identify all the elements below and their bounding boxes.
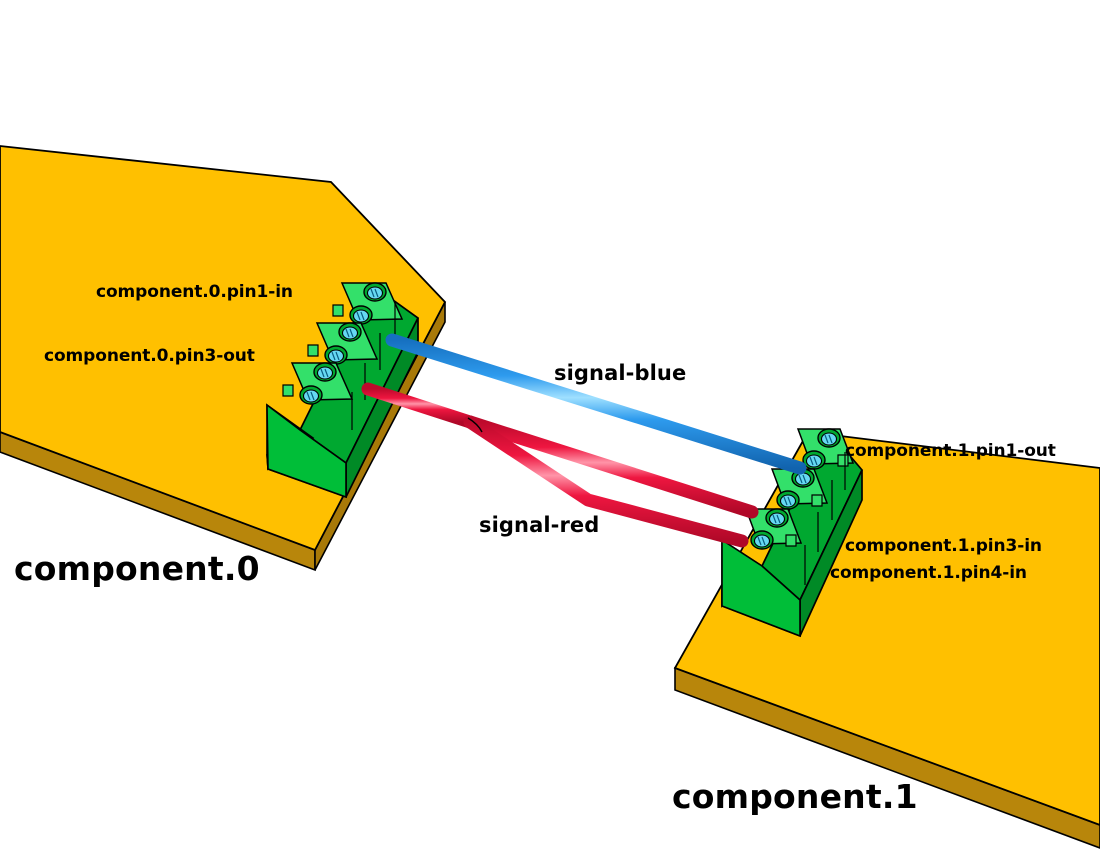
screw-terminal-0-2b[interactable] [325, 346, 347, 364]
signal-label-blue: signal-blue [554, 363, 686, 384]
diagram-canvas: component.0.pin1-in component.0.pin3-out… [0, 0, 1100, 850]
screw-terminal-1-3a[interactable] [766, 509, 788, 527]
screw-terminal-0-3a[interactable] [314, 363, 336, 381]
board-title-component-1: component.1 [672, 780, 918, 813]
signal-label-red: signal-red [479, 515, 599, 536]
screw-terminal-1-1b[interactable] [803, 451, 825, 469]
screw-terminal-1-1a[interactable] [818, 429, 840, 447]
screw-terminal-1-2b[interactable] [777, 491, 799, 509]
pin-label-component-1-pin3-in: component.1.pin3-in [845, 538, 1042, 555]
pin-label-component-1-pin4-in: component.1.pin4-in [830, 565, 1027, 582]
pin-label-component-0-pin1-in: component.0.pin1-in [96, 284, 293, 301]
screw-terminal-0-1b[interactable] [350, 306, 372, 324]
wiring-diagram-svg [0, 0, 1100, 850]
screw-terminal-1-3b[interactable] [751, 531, 773, 549]
wire-signal-blue[interactable] [392, 340, 800, 468]
screw-terminal-0-3b[interactable] [300, 386, 322, 404]
pin-label-component-0-pin3-out: component.0.pin3-out [44, 348, 255, 365]
screw-terminal-0-1a[interactable] [364, 283, 386, 301]
pin-label-component-1-pin1-out: component.1.pin1-out [845, 443, 1056, 460]
board-title-component-0: component.0 [14, 552, 260, 585]
screw-terminal-0-2a[interactable] [339, 323, 361, 341]
